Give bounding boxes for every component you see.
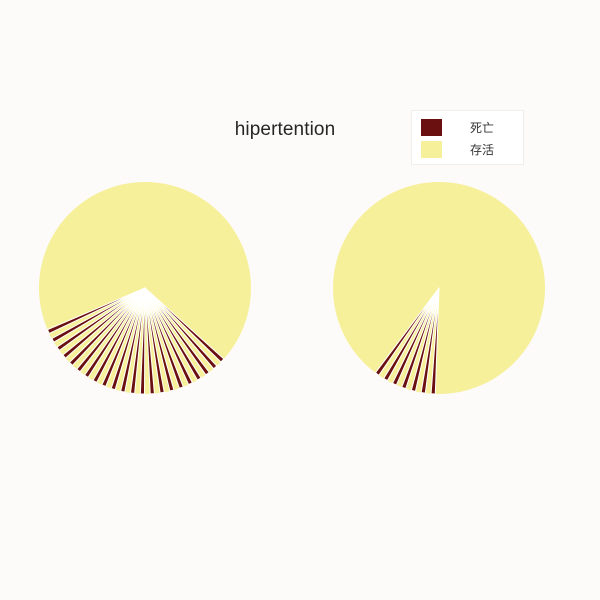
pie-chart-figure: [0, 0, 600, 600]
page-title: hipertention: [160, 119, 410, 141]
pie-right: [333, 182, 545, 394]
legend-swatch-death: [421, 119, 442, 136]
legend-label-death: 死亡: [470, 119, 494, 136]
legend-item-survival[interactable]: 存活: [412, 138, 523, 160]
pie-left: [39, 182, 251, 394]
legend: 死亡 存活: [411, 110, 524, 165]
legend-item-death[interactable]: 死亡: [412, 116, 523, 138]
legend-swatch-survival: [421, 141, 442, 158]
legend-label-survival: 存活: [470, 141, 494, 158]
